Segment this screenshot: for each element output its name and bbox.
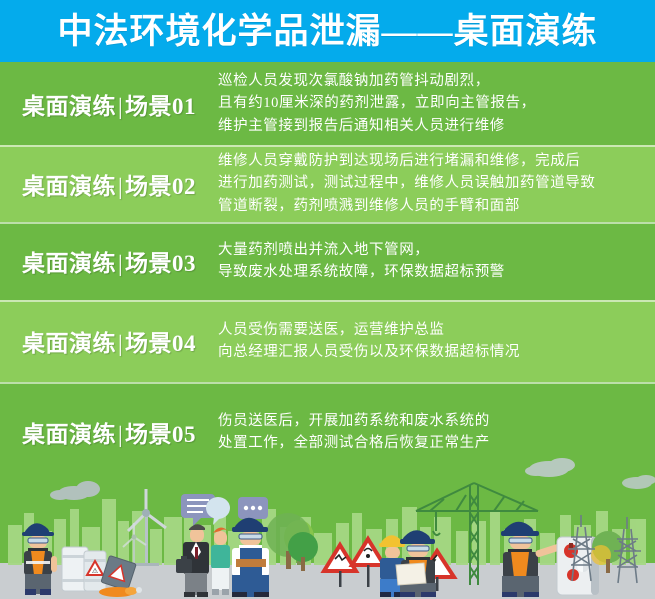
scenario-label-4: 桌面演练|场景04 xyxy=(0,324,218,358)
scenario-row-2[interactable]: 桌面演练|场景02 维修人员穿戴防护到达现场后进行堵漏和维修，完成后 进行加药测… xyxy=(0,145,655,222)
scenario-description-1: 巡检人员发现次氯酸钠加药管抖动剧烈， 且有约10厘米深的药剂泄露，立即向主管报告… xyxy=(218,70,655,137)
scenario-row-1[interactable]: 桌面演练|场景01 巡检人员发现次氯酸钠加药管抖动剧烈， 且有约10厘米深的药剂… xyxy=(0,62,655,145)
scenario-row-3[interactable]: 桌面演练|场景03 大量药剂喷出并流入地下管网， 导致废水处理系统故障，环保数据… xyxy=(0,222,655,300)
scenario-description-line: 进行加药测试，测试过程中，维修人员误触加药管道导致 xyxy=(218,172,637,194)
woman-figure-icon xyxy=(211,527,230,595)
page-title: 中法环境化学品泄漏——桌面演练 xyxy=(57,14,597,49)
cloud-icon xyxy=(50,481,100,500)
scenario-label-3: 桌面演练|场景03 xyxy=(0,244,218,278)
scenario-label-2: 桌面演练|场景02 xyxy=(0,167,218,201)
scenario-label-prefix-1: 桌面演练 xyxy=(22,94,116,119)
scenario-description-line: 且有约10厘米深的药剂泄露，立即向主管报告， xyxy=(218,92,637,114)
scenario-description-line: 处置工作，全部测试合格后恢复正常生产 xyxy=(218,432,637,454)
svg-text:⚠: ⚠ xyxy=(92,567,98,575)
scenario-label-prefix-2: 桌面演练 xyxy=(22,174,116,199)
scenario-label-suffix-4: 场景04 xyxy=(125,331,196,356)
scenario-description-line: 大量药剂喷出并流入地下管网， xyxy=(218,239,637,261)
scenario-label-separator-4: | xyxy=(116,331,125,356)
scenario-label-suffix-5: 场景05 xyxy=(125,422,196,447)
scenario-label-prefix-3: 桌面演练 xyxy=(22,251,116,276)
scenario-label-prefix-5: 桌面演练 xyxy=(22,422,116,447)
scenario-description-2: 维修人员穿戴防护到达现场后进行堵漏和维修，完成后 进行加药测试，测试过程中，维修… xyxy=(218,150,655,217)
scenario-row-4[interactable]: 桌面演练|场景04 人员受伤需要送医，运营维护总监 向总经理汇报人员受伤以及环保… xyxy=(0,300,655,382)
scenario-label-separator-1: | xyxy=(116,94,125,119)
scenario-label-separator-5: | xyxy=(116,422,125,447)
scenario-list: 桌面演练|场景01 巡检人员发现次氯酸钠加药管抖动剧烈， 且有约10厘米深的药剂… xyxy=(0,62,655,482)
scenario-label-suffix-2: 场景02 xyxy=(125,174,196,199)
scenario-description-line: 巡检人员发现次氯酸钠加药管抖动剧烈， xyxy=(218,70,637,92)
scenario-description-3: 大量药剂喷出并流入地下管网， 导致废水处理系统故障，环保数据超标预警 xyxy=(218,239,655,284)
scenario-description-4: 人员受伤需要送医，运营维护总监 向总经理汇报人员受伤以及环保数据超标情况 xyxy=(218,319,655,364)
scenario-label-5: 桌面演练|场景05 xyxy=(0,415,218,449)
scenario-description-line: 维护主管接到报告后通知相关人员进行维修 xyxy=(218,115,637,137)
chemical-barrels-icon: ⚠ xyxy=(62,547,106,591)
worker-document-icon xyxy=(396,530,436,597)
scenario-description-line: 人员受伤需要送医，运营维护总监 xyxy=(218,319,637,341)
cloud-icon xyxy=(622,475,655,489)
scenario-label-prefix-4: 桌面演练 xyxy=(22,331,116,356)
scenario-description-line: 管道断裂，药剂喷溅到维修人员的手臂和面部 xyxy=(218,195,637,217)
scenario-divider xyxy=(0,382,655,384)
scenario-label-1: 桌面演练|场景01 xyxy=(0,87,218,121)
scenario-divider xyxy=(0,222,655,224)
scenario-description-line: 向总经理汇报人员受伤以及环保数据超标情况 xyxy=(218,341,637,363)
worker-overalls-icon xyxy=(232,518,269,597)
scenario-label-separator-2: | xyxy=(116,174,125,199)
illustration-scene: ⚠ xyxy=(0,455,655,599)
poster-title-bar: 中法环境化学品泄漏——桌面演练 xyxy=(0,0,655,62)
scenario-label-suffix-3: 场景03 xyxy=(125,251,196,276)
worker-hardhat-left-icon xyxy=(22,523,57,595)
spill-puddle-icon xyxy=(99,587,142,597)
scenario-label-suffix-1: 场景01 xyxy=(125,94,196,119)
scenario-description-line: 伤员送医后，开展加药系统和废水系统的 xyxy=(218,410,637,432)
poster-root: 中法环境化学品泄漏——桌面演练 桌面演练|场景01 巡检人员发现次氯酸钠加药管抖… xyxy=(0,0,655,599)
scenario-divider xyxy=(0,145,655,147)
scenario-label-separator-3: | xyxy=(116,251,125,276)
scenario-description-line: 维修人员穿戴防护到达现场后进行堵漏和维修，完成后 xyxy=(218,150,637,172)
tree-icon xyxy=(288,532,318,571)
cloud-icon xyxy=(525,458,575,477)
illustration-banner: ⚠ xyxy=(0,455,655,599)
scenario-divider xyxy=(0,300,655,302)
scenario-description-5: 伤员送医后，开展加药系统和废水系统的 处置工作，全部测试合格后恢复正常生产 xyxy=(218,410,655,455)
scenario-description-line: 导致废水处理系统故障，环保数据超标预警 xyxy=(218,261,637,283)
